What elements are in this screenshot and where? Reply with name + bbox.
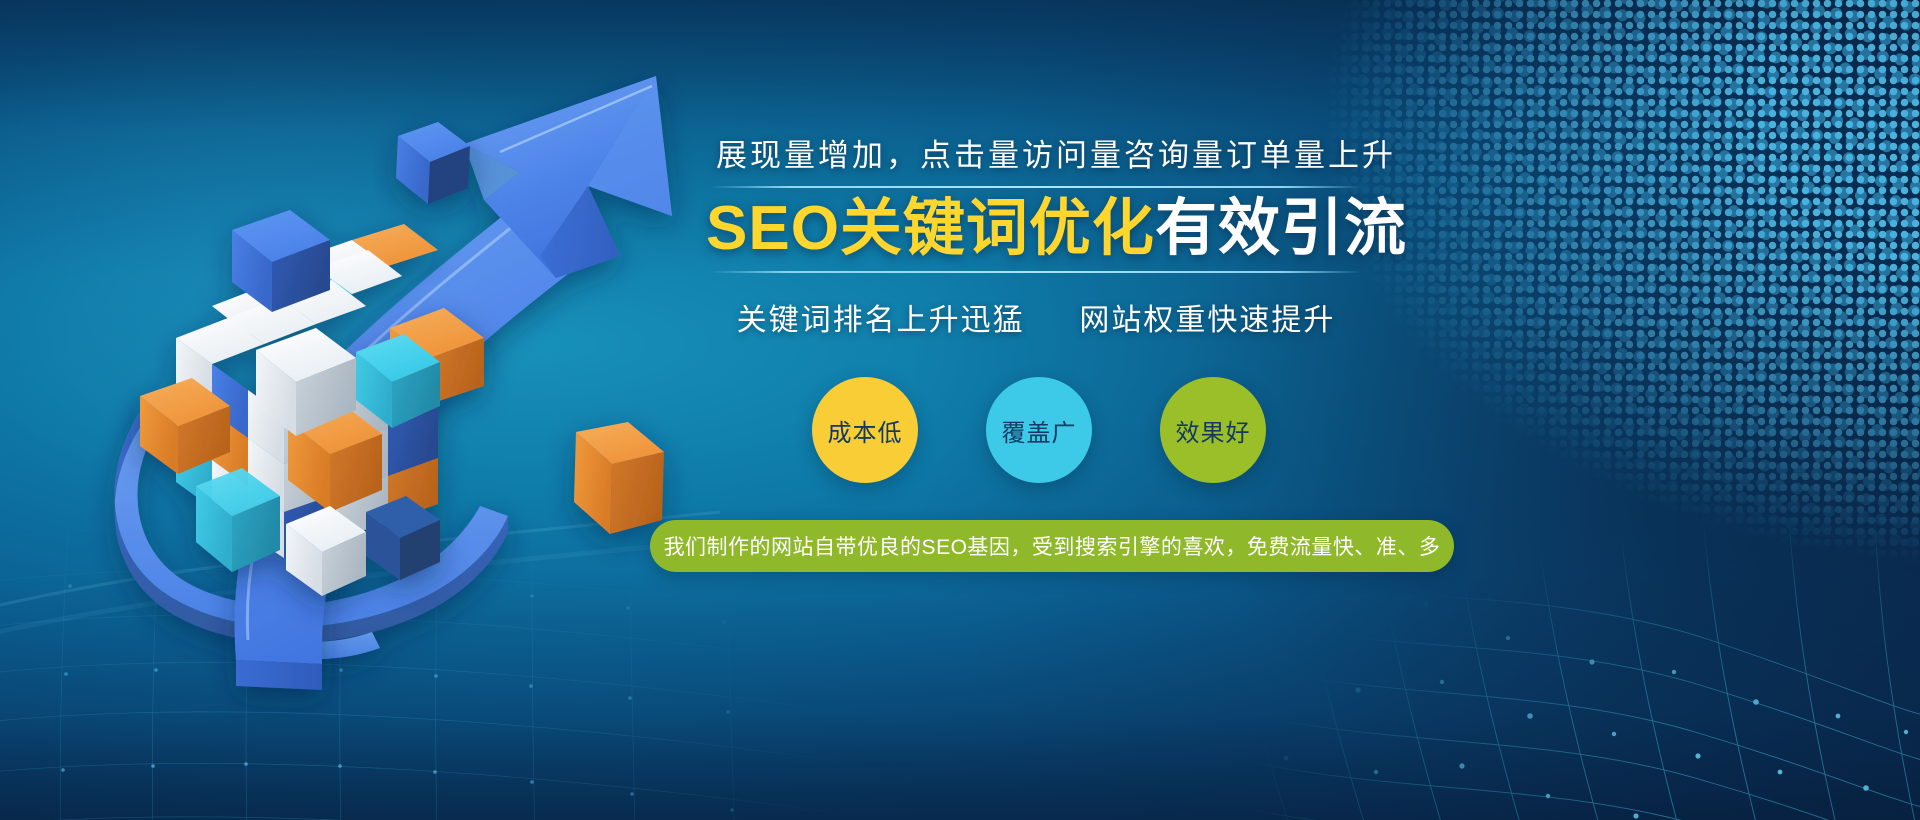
benefit-badge-result[interactable]: 效果好 <box>1160 377 1266 483</box>
benefit-badge-cost-label: 成本低 <box>828 413 903 448</box>
headline-highlight: SEO关键词优化 <box>706 194 1155 263</box>
benefit-badge-coverage-label: 覆盖广 <box>1002 413 1077 448</box>
divider-top <box>710 186 1362 188</box>
floating-blue-cube <box>396 122 470 204</box>
banner-tagline: 关键词排名上升迅猛 网站权重快速提升 <box>710 295 1362 339</box>
benefit-badge-result-label: 效果好 <box>1176 413 1251 448</box>
banner-headline: SEO关键词优化有效引流 <box>706 192 1366 265</box>
copy-block: 展现量增加，点击量访问量咨询量订单量上升 SEO关键词优化有效引流 关键词排名上… <box>700 130 1880 730</box>
headline-rest: 有效引流 <box>1155 194 1407 263</box>
benefit-badges: 成本低 覆盖广 效果好 <box>812 377 1266 483</box>
rubiks-cube <box>140 210 484 596</box>
divider-bottom <box>710 271 1362 273</box>
hero-artwork <box>0 0 760 820</box>
benefit-badge-coverage[interactable]: 覆盖广 <box>986 377 1092 483</box>
seo-banner: 展现量增加，点击量访问量咨询量订单量上升 SEO关键词优化有效引流 关键词排名上… <box>0 0 1920 820</box>
footer-note-pill: 我们制作的网站自带优良的SEO基因，受到搜索引擎的喜欢，免费流量快、准、多 <box>650 520 1454 572</box>
tagline-left: 关键词排名上升迅猛 <box>737 304 1025 337</box>
footer-note-text: 我们制作的网站自带优良的SEO基因，受到搜索引擎的喜欢，免费流量快、准、多 <box>664 531 1441 561</box>
banner-subtitle: 展现量增加，点击量访问量咨询量订单量上升 <box>716 130 1356 175</box>
benefit-badge-cost[interactable]: 成本低 <box>812 377 918 483</box>
tagline-right: 网站权重快速提升 <box>1079 304 1335 337</box>
floating-orange-cube <box>574 422 664 534</box>
